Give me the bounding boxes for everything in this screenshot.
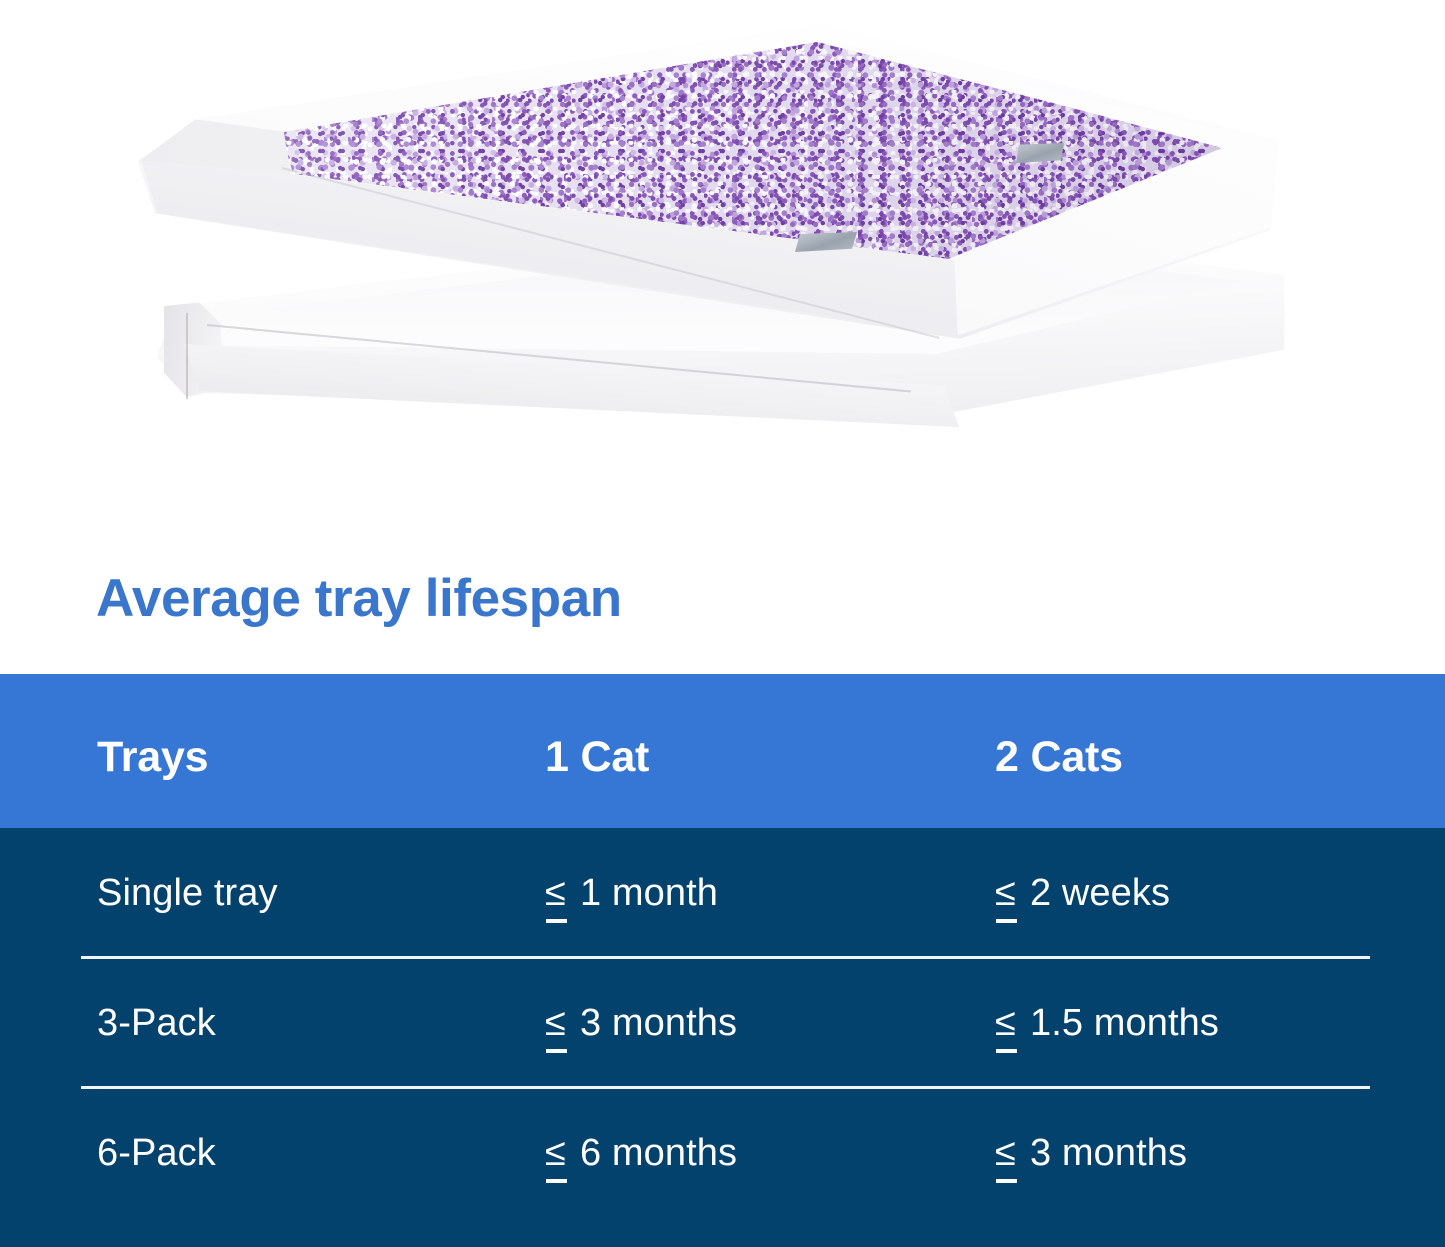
less-or-equal-underbar <box>996 1179 1017 1183</box>
table-row: Single tray ≤ 1 month ≤ 2 weeks <box>0 828 1445 958</box>
cell-one-cat-value: 3 months <box>580 1002 737 1045</box>
infographic-page: Average tray lifespan Trays 1 Cat 2 Cats… <box>0 0 1445 1247</box>
table-body: Single tray ≤ 1 month ≤ 2 weeks 3-Pack <box>0 828 1445 1247</box>
less-or-equal-icon: ≤ <box>995 1004 1016 1042</box>
less-or-equal-underbar <box>546 919 567 923</box>
cell-two-cats: ≤ 3 months <box>995 1088 1187 1218</box>
cell-two-cats-value: 1.5 months <box>1030 1002 1219 1045</box>
table-header: Trays 1 Cat 2 Cats <box>0 674 1445 828</box>
column-header-one-cat: 1 Cat <box>545 686 649 828</box>
column-header-trays: Trays <box>97 686 208 828</box>
cell-trays: Single tray <box>97 828 278 958</box>
cell-two-cats-value: 2 weeks <box>1030 872 1170 915</box>
page-title: Average tray lifespan <box>96 572 622 625</box>
less-or-equal-underbar <box>546 1049 567 1053</box>
cell-trays: 6-Pack <box>97 1088 216 1218</box>
cell-one-cat-value: 1 month <box>580 872 718 915</box>
cell-one-cat: ≤ 1 month <box>545 828 718 958</box>
table-header-row: Trays 1 Cat 2 Cats <box>0 686 1445 828</box>
less-or-equal-underbar <box>996 919 1017 923</box>
less-or-equal-icon: ≤ <box>995 874 1016 912</box>
cell-one-cat-value: 6 months <box>580 1132 737 1175</box>
cell-two-cats: ≤ 1.5 months <box>995 958 1219 1088</box>
table-row: 6-Pack ≤ 6 months ≤ 3 months <box>0 1088 1445 1218</box>
cell-one-cat: ≤ 6 months <box>545 1088 737 1218</box>
cell-two-cats-value: 3 months <box>1030 1132 1187 1175</box>
cell-trays: 3-Pack <box>97 958 216 1088</box>
column-header-two-cats: 2 Cats <box>995 686 1123 828</box>
cell-one-cat: ≤ 3 months <box>545 958 737 1088</box>
tray-tab-icon-1 <box>1016 143 1064 163</box>
less-or-equal-icon: ≤ <box>545 874 566 912</box>
less-or-equal-underbar <box>996 1049 1017 1053</box>
less-or-equal-icon: ≤ <box>995 1134 1016 1172</box>
table-row: 3-Pack ≤ 3 months ≤ 1.5 months <box>0 958 1445 1088</box>
less-or-equal-icon: ≤ <box>545 1134 566 1172</box>
cell-two-cats: ≤ 2 weeks <box>995 828 1170 958</box>
filled-tray <box>132 22 1282 352</box>
less-or-equal-icon: ≤ <box>545 1004 566 1042</box>
less-or-equal-underbar <box>546 1179 567 1183</box>
tray-tab-icon-2 <box>795 232 857 252</box>
